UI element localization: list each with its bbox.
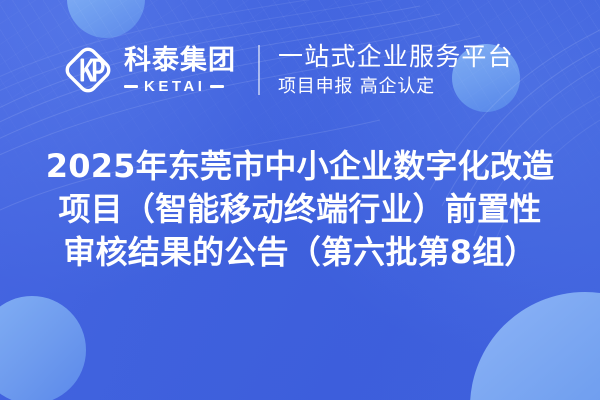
brand-dash-left (124, 85, 138, 88)
brand-lockup: 科泰集团 KETAI (62, 44, 236, 96)
brand-name-en-row: KETAI (124, 79, 236, 94)
page-title: 2025年东莞市中小企业数字化改造 项目（智能移动终端行业）前置性 审核结果的公… (0, 145, 600, 274)
brand-dash-right (210, 85, 224, 88)
brand-text: 科泰集团 KETAI (124, 47, 236, 94)
ketai-diamond-kp-logo-icon (62, 44, 114, 96)
tagline-main: 一站式企业服务平台 (278, 44, 514, 70)
tagline-sub: 项目申报 高企认定 (278, 78, 514, 97)
announcement-banner: 科泰集团 KETAI 一站式企业服务平台 项目申报 高企认定 2025年东莞市中… (0, 0, 600, 400)
header-divider (258, 45, 260, 95)
tagline-block: 一站式企业服务平台 项目申报 高企认定 (278, 44, 514, 97)
banner-header: 科泰集团 KETAI 一站式企业服务平台 项目申报 高企认定 (0, 0, 600, 140)
page-title-line-3: 审核结果的公告（第六批第8组） (30, 231, 570, 274)
brand-name-cn: 科泰集团 (124, 47, 236, 74)
page-title-line-1: 2025年东莞市中小企业数字化改造 (30, 145, 570, 188)
brand-name-en: KETAI (144, 79, 205, 94)
page-title-line-2: 项目（智能移动终端行业）前置性 (30, 188, 570, 231)
